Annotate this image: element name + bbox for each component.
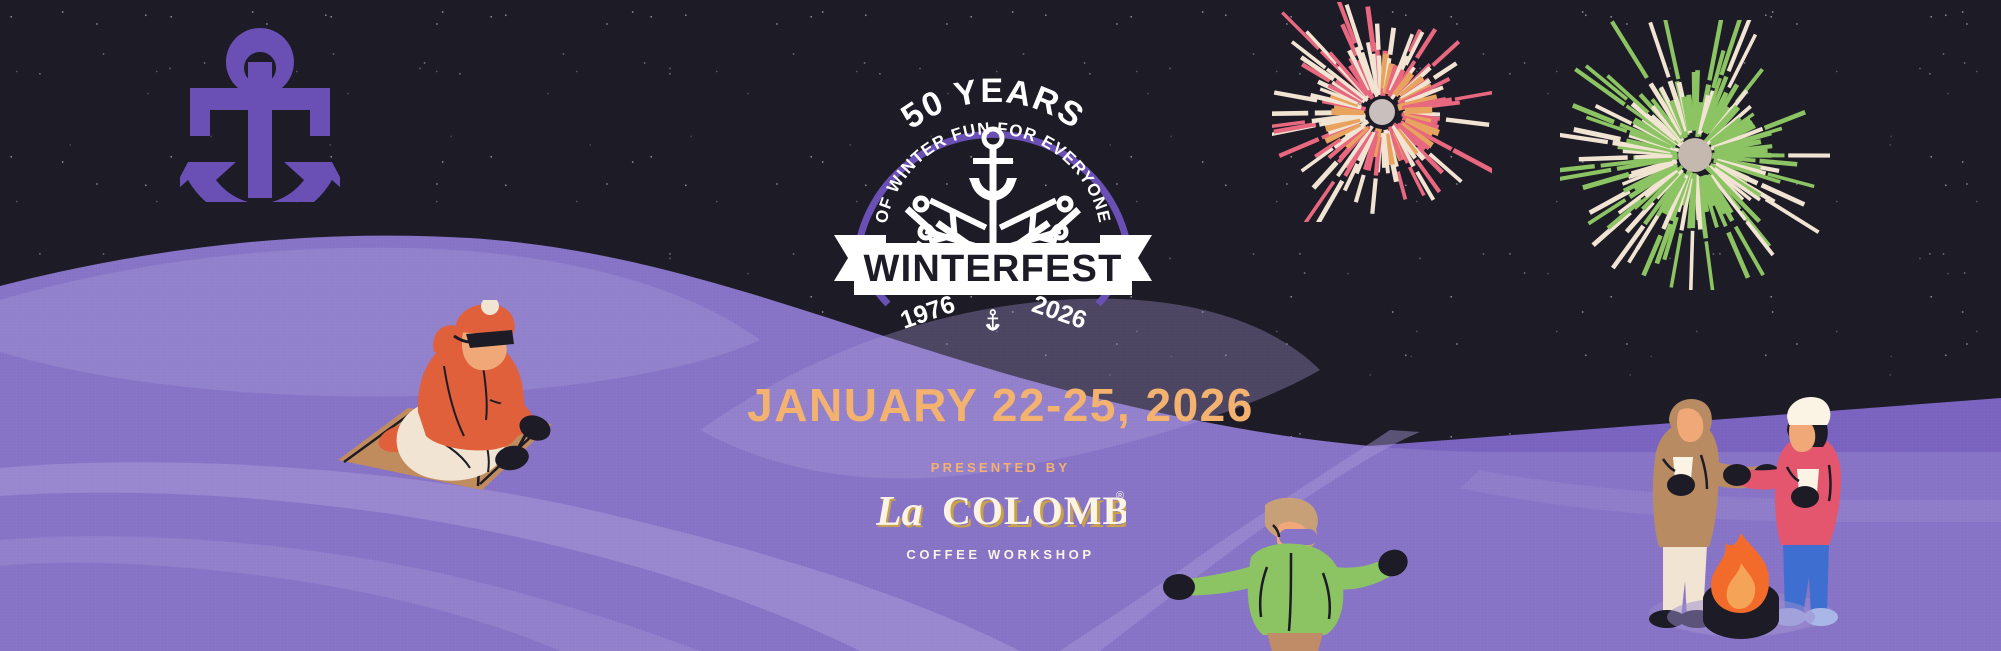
registered-mark: ® — [1116, 490, 1124, 502]
firework-pink — [1272, 2, 1492, 222]
la-colombe-script-mark: La La — [876, 489, 925, 537]
skater-character — [1155, 495, 1415, 651]
la-colombe-wordmark: COLOMBE COLOMBE — [942, 488, 1126, 536]
sledder-character — [330, 300, 560, 500]
badge-ribbon-text: WINTERFEST — [864, 248, 1123, 290]
la-colombe-script: La — [876, 489, 923, 535]
anchor-icon — [180, 22, 340, 202]
la-colombe-logo: La La COLOMBE COLOMBE ® — [876, 481, 1126, 542]
firework-green — [1560, 20, 1830, 290]
fire-pair-character — [1645, 395, 1895, 651]
winterfest-banner: WINTERFEST 50 YEARS OF WINTER FUN FOR EV… — [0, 0, 2001, 651]
svg-text:COLOMBE: COLOMBE — [942, 488, 1126, 533]
winterfest-badge: WINTERFEST 50 YEARS OF WINTER FUN FOR EV… — [828, 52, 1158, 317]
